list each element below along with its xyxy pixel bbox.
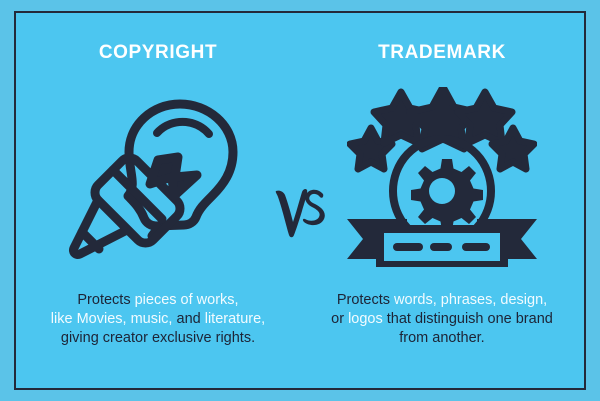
vs-brush-mark-icon — [274, 183, 326, 239]
caption-seg: that distinguish one brand — [387, 311, 553, 327]
badge-gear-stars-ribbon-icon — [347, 87, 537, 267]
caption-seg: words, phrases, design, — [394, 292, 547, 308]
lightbulb-pencil-icon — [65, 89, 251, 265]
caption-seg: giving creator exclusive rights. — [61, 330, 255, 346]
caption-seg: like Movies, music, — [51, 311, 177, 327]
caption-seg: literature, — [205, 311, 265, 327]
trademark-artwork — [300, 62, 584, 291]
column-copyright: COPYRIGHT — [16, 13, 300, 388]
copyright-artwork — [16, 62, 300, 291]
infographic-canvas: COPYRIGHT — [0, 0, 600, 401]
caption-line: giving creator exclusive rights. — [51, 329, 265, 348]
heading-trademark: TRADEMARK — [378, 43, 506, 62]
caption-seg: from another. — [399, 330, 484, 346]
column-trademark: TRADEMARK — [300, 13, 584, 388]
caption-copyright: Protects pieces of works, like Movies, m… — [45, 291, 271, 348]
heading-copyright: COPYRIGHT — [99, 43, 217, 62]
caption-trademark: Protects words, phrases, design, or logo… — [325, 291, 559, 348]
vs-divider — [270, 181, 330, 241]
caption-seg: Protects — [337, 292, 394, 308]
caption-line: Protects words, phrases, design, — [331, 291, 553, 310]
caption-seg: pieces of works, — [135, 292, 239, 308]
caption-seg: or — [331, 311, 348, 327]
caption-line: or logos that distinguish one brand — [331, 310, 553, 329]
caption-seg: and — [177, 311, 205, 327]
caption-line: Protects pieces of works, — [51, 291, 265, 310]
inner-frame-border: COPYRIGHT — [14, 11, 586, 390]
caption-seg: logos — [348, 311, 387, 327]
caption-line: from another. — [331, 329, 553, 348]
caption-line: like Movies, music, and literature, — [51, 310, 265, 329]
caption-seg: Protects — [77, 292, 134, 308]
